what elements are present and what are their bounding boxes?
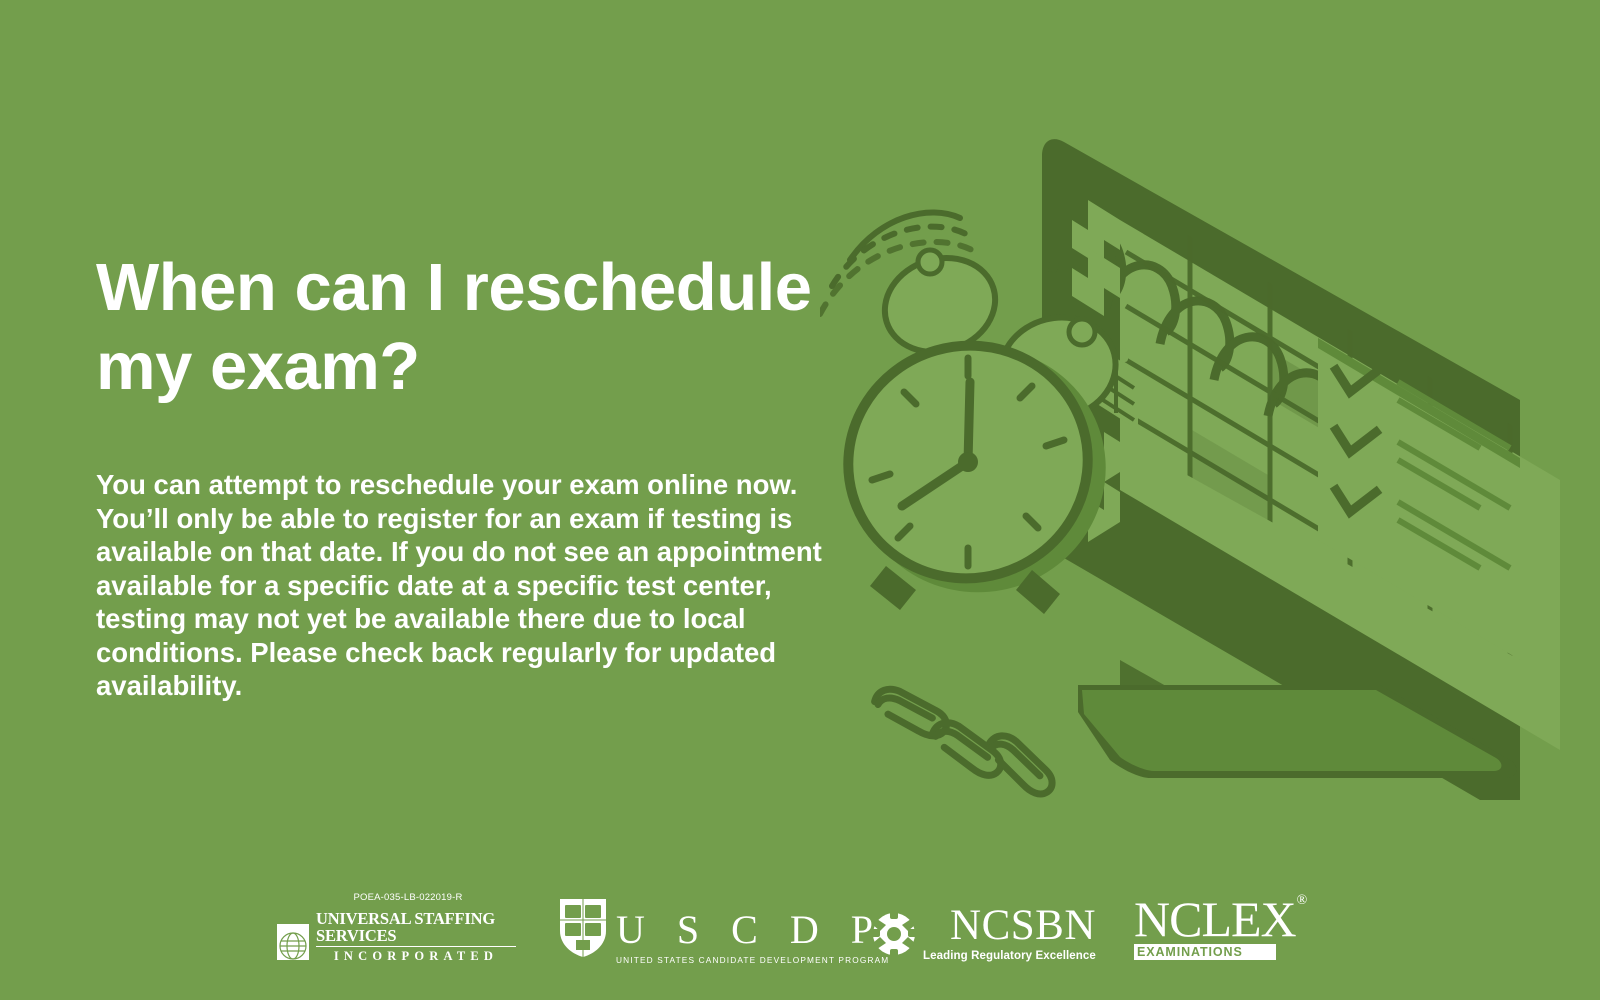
body-paragraph: You can attempt to reschedule your exam …: [96, 406, 841, 703]
ncsbn-name: NCSBN: [950, 906, 1096, 947]
ncsbn-subtitle: Leading Regulatory Excellence: [923, 951, 1096, 963]
globe-icon: [276, 923, 310, 966]
logo-universal-staffing: POEA-035-LB-022019-R UNIVERSAL STAFFING …: [276, 892, 516, 966]
uss-name: UNIVERSAL STAFFING SERVICES: [316, 910, 516, 948]
segmented-globe-icon: [872, 911, 916, 962]
shield-crest-icon: [558, 897, 608, 964]
illustration: [820, 100, 1560, 800]
nclex-name: NCLEX: [1134, 891, 1296, 947]
logo-ncsbn: NCSBN Leading Regulatory Excellence: [872, 906, 1096, 962]
uscdp-subtitle: UNITED STATES CANDIDATE DEVELOPMENT PROG…: [616, 956, 889, 964]
copy-block: When can I reschedule my exam? You can a…: [96, 248, 866, 703]
poea-license-code: POEA-035-LB-022019-R: [276, 892, 516, 903]
footer-logo-row: POEA-035-LB-022019-R UNIVERSAL STAFFING …: [0, 876, 1600, 966]
slide-root: When can I reschedule my exam? You can a…: [0, 0, 1600, 1000]
page-title: When can I reschedule my exam?: [96, 248, 866, 406]
logo-nclex: NCLEX® EXAMINATIONS: [1134, 896, 1305, 961]
logo-uscdp: U S C D P UNITED STATES CANDIDATE DEVELO…: [558, 897, 889, 964]
nclex-name-wrap: NCLEX®: [1134, 896, 1305, 942]
uscdp-name: U S C D P: [616, 910, 889, 950]
paper-clips: [870, 686, 1063, 799]
uss-subtitle: INCORPORATED: [316, 947, 516, 966]
registered-mark: ®: [1297, 893, 1307, 908]
